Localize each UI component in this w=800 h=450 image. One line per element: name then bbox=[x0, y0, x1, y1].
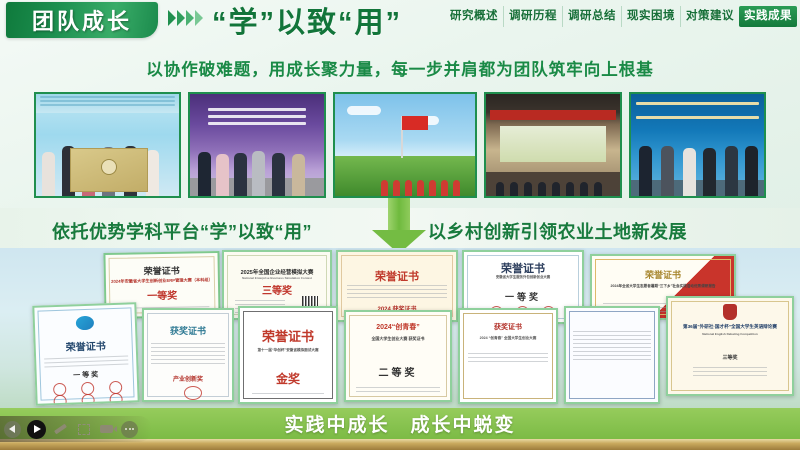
certificate-title: 获奖证书 bbox=[460, 322, 556, 332]
certificate-award: 一等奖 bbox=[106, 286, 218, 303]
certificate-award: 三等奖 bbox=[224, 282, 330, 297]
pen-icon[interactable] bbox=[52, 421, 69, 438]
certificate-award: 金奖 bbox=[240, 370, 336, 387]
certificate-card[interactable]: 荣誉证书 第十一届“华创杯”安徽省模拟面试大赛 金奖 bbox=[238, 306, 338, 404]
nav-tabs[interactable]: 研究概述 调研历程 调研总结 现实困境 对策建议 实践成果 bbox=[445, 6, 797, 27]
certificate-card[interactable] bbox=[564, 306, 660, 404]
certificate-title: 荣誉证书 bbox=[592, 268, 734, 281]
certificate-title: 2024“创青春” bbox=[346, 322, 450, 332]
photo-team-flag bbox=[34, 92, 181, 198]
certificate-award: 三等奖 bbox=[668, 354, 792, 361]
certificate-title: 荣誉证书 bbox=[106, 263, 218, 278]
certificate-award: 一等奖 bbox=[464, 290, 582, 303]
certificate-subtitle: National Enterprise Business Simulation … bbox=[224, 276, 330, 280]
tab-research-overview[interactable]: 研究概述 bbox=[445, 6, 503, 27]
certificate-subtitle: 2024年全省大学生志愿者暑期“三下乡”社会实践活动优秀调研报告 bbox=[592, 284, 734, 289]
mid-left-text: 依托优势学科平台“学”以致“用” bbox=[52, 218, 312, 244]
certificate-card[interactable]: 第36届“外研社·国才杯”全国大学生英语辩论赛 National English… bbox=[666, 296, 794, 396]
photo-strip bbox=[34, 92, 766, 198]
tab-countermeasures[interactable]: 对策建议 bbox=[680, 6, 739, 27]
certificate-subtitle: 第十一届“华创杯”安徽省模拟面试大赛 bbox=[240, 348, 336, 353]
photo-rice-field-flags bbox=[333, 92, 477, 198]
tab-research-summary[interactable]: 调研总结 bbox=[562, 6, 621, 27]
certificate-subtitle: 全国大学生创业大赛 获奖证书 bbox=[346, 336, 450, 342]
certificate-card[interactable]: 获奖证书 产业创新奖 bbox=[142, 308, 234, 402]
more-options-icon[interactable] bbox=[121, 421, 138, 438]
bottom-banner-text: 实践中成长 成长中蜕变 bbox=[284, 410, 515, 437]
page-header: 团队成长 “学”以致“用” 研究概述 调研历程 调研总结 现实困境 对策建议 实… bbox=[0, 0, 800, 40]
page-title: “学”以致“用” bbox=[212, 0, 402, 41]
certificate-award: 产业创新奖 bbox=[144, 374, 232, 383]
photo-career-planning-contest bbox=[188, 92, 327, 198]
tab-real-challenges[interactable]: 现实困境 bbox=[621, 6, 680, 27]
photo-entrepreneurship-contest-group bbox=[629, 92, 766, 198]
brand-badge: 团队成长 bbox=[6, 2, 158, 38]
back-arrow-icon[interactable] bbox=[4, 421, 21, 438]
certificate-title: 荣誉证书 bbox=[240, 326, 336, 345]
certificate-card[interactable]: 获奖证书 2024 “创青春” 全国大学生创业大赛 bbox=[458, 308, 558, 404]
certificate-wall: 荣誉证书 2024年安徽省大学生创新创业ERP管理大赛（本科组） 一等奖 202… bbox=[0, 248, 800, 408]
camera-icon[interactable] bbox=[98, 421, 115, 438]
tab-practice-results[interactable]: 实践成果 bbox=[739, 6, 797, 27]
tab-research-journey[interactable]: 调研历程 bbox=[503, 6, 562, 27]
photo-award-ceremony-auditorium bbox=[484, 92, 623, 198]
certificate-card[interactable]: 2024“创青春” 全国大学生创业大赛 获奖证书 二等奖 bbox=[344, 310, 452, 402]
down-arrow-icon bbox=[372, 198, 426, 254]
certificate-subtitle: 安徽省大学生服务外包创新创业大赛 bbox=[464, 274, 582, 279]
presentation-player-bar[interactable] bbox=[0, 416, 152, 442]
certificate-title: 第36届“外研社·国才杯”全国大学生英语辩论赛 bbox=[668, 324, 792, 330]
certificate-card[interactable]: 荣誉证书 一等奖 bbox=[32, 302, 139, 406]
double-chevron-right-icon bbox=[168, 10, 203, 26]
certificate-title: 2025年全国企业经营模拟大赛 bbox=[224, 268, 330, 276]
mid-right-text: 以乡村创新引领农业土地新发展 bbox=[428, 218, 687, 244]
certificate-title: 获奖证书 bbox=[144, 324, 232, 337]
laser-pointer-icon[interactable] bbox=[75, 421, 92, 438]
brand-label: 团队成长 bbox=[32, 4, 132, 36]
play-icon[interactable] bbox=[27, 420, 46, 439]
certificate-award: 二等奖 bbox=[346, 364, 450, 379]
section-subtitle: 以协作破难题，用成长聚力量，每一步并肩都为团队筑牢向上根基 bbox=[0, 56, 800, 80]
certificate-subtitle: 2024 “创青春” 全国大学生创业大赛 bbox=[460, 336, 556, 341]
certificate-subtitle: National English Debating Competition bbox=[668, 332, 792, 336]
